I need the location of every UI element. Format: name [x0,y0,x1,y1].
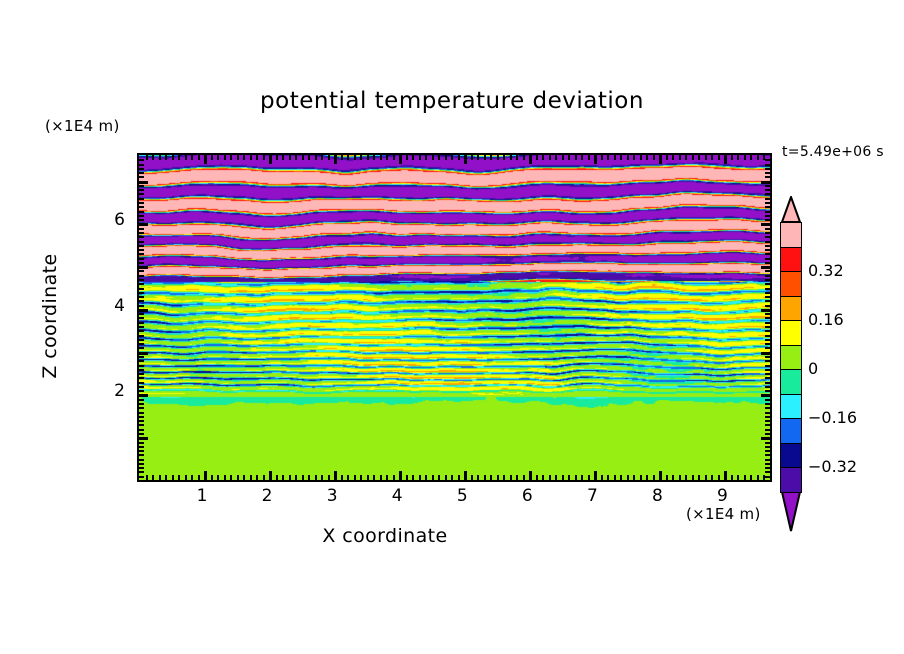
y-minor-tick [139,377,144,379]
y-minor-tick [139,454,144,456]
colorbar: 0.320.160−0.16−0.32 [780,196,802,518]
x-minor-tick [276,475,278,480]
y-minor-tick [139,292,144,294]
y-minor-tick [139,407,144,409]
y-minor-tick [139,450,144,452]
x-minor-tick [750,475,752,480]
y-minor-tick [139,326,144,328]
x-minor-tick [185,155,187,160]
y-minor-tick [139,300,144,302]
y-minor-tick [765,330,770,332]
x-minor-tick [757,155,759,160]
time-annotation: t=5.49e+06 s [782,144,884,160]
x-minor-tick [497,155,499,160]
x-minor-tick [614,475,616,480]
x-minor-tick [542,475,544,480]
y-minor-tick [139,164,144,166]
y-minor-tick [139,258,144,260]
x-minor-tick [510,155,512,160]
page-title: potential temperature deviation [0,88,904,114]
y-major-tick [139,394,148,397]
y-minor-tick [765,407,770,409]
y-major-tick [139,352,148,355]
y-minor-tick [765,215,770,217]
y-minor-tick [765,322,770,324]
x-minor-tick [165,475,167,480]
y-major-tick [761,394,770,397]
x-minor-tick [607,155,609,160]
x-minor-tick [711,475,713,480]
x-major-tick [334,471,337,480]
y-major-tick [761,352,770,355]
x-minor-tick [185,475,187,480]
y-minor-tick [765,159,770,161]
y-minor-tick [765,365,770,367]
y-tick-label: 4 [95,296,125,316]
x-minor-tick [503,475,505,480]
x-minor-tick [354,475,356,480]
y-minor-tick [765,296,770,298]
x-minor-tick [516,155,518,160]
x-minor-tick [601,155,603,160]
x-minor-tick [607,475,609,480]
y-minor-tick [139,463,144,465]
y-minor-tick [765,467,770,469]
y-minor-tick [139,446,144,448]
y-minor-tick [139,390,144,392]
x-minor-tick [614,155,616,160]
x-major-tick [204,471,207,480]
y-minor-tick [139,347,144,349]
x-minor-tick [744,155,746,160]
y-minor-tick [139,172,144,174]
x-minor-tick [341,475,343,480]
x-minor-tick [471,155,473,160]
x-minor-tick [302,155,304,160]
y-minor-tick [765,313,770,315]
x-minor-tick [536,475,538,480]
y-minor-tick [765,386,770,388]
y-minor-tick [139,253,144,255]
x-minor-tick [282,155,284,160]
x-minor-tick [211,475,213,480]
x-minor-tick [633,155,635,160]
y-minor-tick [765,258,770,260]
x-minor-tick [315,155,317,160]
x-minor-tick [477,475,479,480]
y-minor-tick [765,382,770,384]
x-minor-tick [412,155,414,160]
y-minor-tick [765,326,770,328]
y-minor-tick [765,446,770,448]
x-minor-tick [373,475,375,480]
y-minor-tick [139,412,144,414]
colorbar-tick-label: 0.32 [808,261,844,280]
y-minor-tick [139,202,144,204]
y-minor-tick [765,245,770,247]
x-minor-tick [575,475,577,480]
y-minor-tick [765,360,770,362]
y-major-tick [761,266,770,269]
x-minor-tick [458,475,460,480]
y-minor-tick [765,373,770,375]
x-minor-tick [146,155,148,160]
y-minor-tick [765,412,770,414]
y-minor-tick [139,185,144,187]
x-major-tick [659,471,662,480]
x-minor-tick [445,155,447,160]
y-minor-tick [139,343,144,345]
x-minor-tick [360,475,362,480]
colorbar-tick-label: 0.16 [808,310,844,329]
y-minor-tick [139,296,144,298]
x-minor-tick [263,475,265,480]
x-minor-tick [289,155,291,160]
x-minor-tick [386,475,388,480]
y-minor-tick [139,330,144,332]
x-major-tick [529,471,532,480]
x-minor-tick [308,155,310,160]
x-major-tick [464,155,467,164]
y-minor-tick [139,416,144,418]
x-minor-tick [718,475,720,480]
x-minor-tick [653,155,655,160]
x-minor-tick [432,475,434,480]
x-minor-tick [666,155,668,160]
y-minor-tick [765,433,770,435]
x-minor-tick [295,155,297,160]
x-minor-tick [159,155,161,160]
y-minor-tick [765,390,770,392]
x-major-tick [594,471,597,480]
y-minor-tick [139,219,144,221]
y-tick-label: 2 [95,381,125,401]
y-minor-tick [765,369,770,371]
x-minor-tick [380,475,382,480]
y-minor-tick [139,275,144,277]
y-minor-tick [765,292,770,294]
colorbar-band [780,369,802,395]
x-major-tick [399,155,402,164]
colorbar-band [780,418,802,444]
x-minor-tick [263,155,265,160]
x-minor-tick [354,155,356,160]
x-minor-tick [503,155,505,160]
y-major-tick [761,437,770,440]
colorbar-bottom-cap [780,492,802,532]
x-minor-tick [685,475,687,480]
x-minor-tick [172,155,174,160]
x-minor-tick [731,155,733,160]
x-minor-tick [562,475,564,480]
y-minor-tick [765,228,770,230]
y-minor-tick [765,424,770,426]
colorbar-tick-label: 0 [808,359,818,378]
x-minor-tick [627,475,629,480]
x-minor-tick [217,475,219,480]
y-minor-tick [765,450,770,452]
x-minor-tick [698,475,700,480]
y-minor-tick [765,262,770,264]
x-tick-label: 5 [442,486,482,506]
x-minor-tick [386,155,388,160]
y-minor-tick [139,176,144,178]
y-minor-tick [139,228,144,230]
x-minor-tick [523,475,525,480]
y-minor-tick [765,241,770,243]
x-minor-tick [510,475,512,480]
y-minor-tick [139,467,144,469]
x-minor-tick [737,155,739,160]
y-minor-tick [139,429,144,431]
x-minor-tick [568,155,570,160]
x-minor-tick [653,475,655,480]
x-minor-tick [679,475,681,480]
x-major-tick [399,471,402,480]
x-minor-tick [211,155,213,160]
x-minor-tick [412,475,414,480]
x-minor-tick [230,155,232,160]
x-minor-tick [256,155,258,160]
y-minor-tick [765,232,770,234]
y-minor-tick [139,360,144,362]
x-minor-tick [380,155,382,160]
y-major-tick [139,223,148,226]
y-minor-tick [139,335,144,337]
x-minor-tick [750,155,752,160]
colorbar-band [780,320,802,346]
y-minor-tick [139,339,144,341]
y-minor-tick [139,206,144,208]
y-minor-tick [139,403,144,405]
y-minor-tick [139,305,144,307]
x-minor-tick [315,475,317,480]
y-minor-tick [139,365,144,367]
y-minor-tick [765,454,770,456]
x-minor-tick [159,475,161,480]
colorbar-tick-label: −0.16 [808,408,857,427]
x-minor-tick [165,155,167,160]
x-minor-tick [406,155,408,160]
x-minor-tick [588,155,590,160]
x-minor-tick [191,155,193,160]
x-minor-tick [341,155,343,160]
x-minor-tick [646,475,648,480]
y-minor-tick [765,429,770,431]
x-tick-label: 1 [182,486,222,506]
y-minor-tick [765,283,770,285]
x-minor-tick [718,155,720,160]
x-minor-tick [172,475,174,480]
x-minor-tick [425,155,427,160]
x-minor-tick [419,155,421,160]
y-minor-tick [765,168,770,170]
y-minor-tick [765,270,770,272]
y-minor-tick [765,403,770,405]
y-minor-tick [139,279,144,281]
x-minor-tick [601,475,603,480]
x-minor-tick [666,475,668,480]
x-minor-tick [393,155,395,160]
x-minor-tick [555,155,557,160]
x-minor-tick [523,155,525,160]
x-minor-tick [243,155,245,160]
y-minor-tick [765,471,770,473]
x-major-tick [659,155,662,164]
x-minor-tick [367,475,369,480]
y-minor-tick [139,433,144,435]
y-minor-tick [139,382,144,384]
x-major-tick [464,471,467,480]
x-minor-tick [698,155,700,160]
y-minor-tick [139,211,144,213]
x-major-tick [334,155,337,164]
x-major-tick [269,155,272,164]
colorbar-band [780,247,802,273]
x-major-tick [724,471,727,480]
x-minor-tick [497,475,499,480]
y-minor-tick [139,159,144,161]
x-tick-label: 8 [637,486,677,506]
x-minor-tick [705,475,707,480]
x-minor-tick [542,155,544,160]
y-minor-tick [765,476,770,478]
y-minor-tick [765,172,770,174]
y-minor-tick [765,335,770,337]
y-minor-tick [139,399,144,401]
x-axis-unit-label: (×1E4 m) [686,505,761,523]
x-minor-tick [744,475,746,480]
x-minor-tick [451,155,453,160]
y-minor-tick [765,206,770,208]
y-minor-tick [765,211,770,213]
x-minor-tick [393,475,395,480]
y-major-tick [139,437,148,440]
x-minor-tick [295,475,297,480]
x-minor-tick [438,155,440,160]
y-minor-tick [765,253,770,255]
x-minor-tick [191,475,193,480]
x-minor-tick [549,475,551,480]
x-minor-tick [347,475,349,480]
y-minor-tick [765,202,770,204]
colorbar-top-cap [780,196,802,222]
x-minor-tick [146,475,148,480]
x-minor-tick [237,475,239,480]
x-minor-tick [152,475,154,480]
x-minor-tick [178,475,180,480]
y-minor-tick [139,317,144,319]
y-major-tick [139,266,148,269]
x-major-tick [594,155,597,164]
y-minor-tick [765,300,770,302]
colorbar-band [780,222,802,248]
x-tick-label: 6 [507,486,547,506]
x-major-tick [204,155,207,164]
x-minor-tick [672,155,674,160]
y-minor-tick [765,164,770,166]
y-minor-tick [139,215,144,217]
x-minor-tick [471,475,473,480]
y-minor-tick [765,275,770,277]
x-minor-tick [737,475,739,480]
y-major-tick [761,223,770,226]
x-minor-tick [224,155,226,160]
x-minor-tick [633,475,635,480]
y-minor-tick [139,476,144,478]
y-minor-tick [765,399,770,401]
x-minor-tick [321,155,323,160]
y-minor-tick [139,442,144,444]
y-minor-tick [139,283,144,285]
x-minor-tick [692,475,694,480]
x-minor-tick [347,155,349,160]
x-major-tick [529,155,532,164]
y-minor-tick [765,347,770,349]
x-minor-tick [731,475,733,480]
colorbar-band [780,443,802,469]
y-minor-tick [139,420,144,422]
x-minor-tick [230,475,232,480]
x-minor-tick [555,475,557,480]
y-major-tick [139,309,148,312]
y-minor-tick [765,189,770,191]
x-major-tick [269,471,272,480]
y-minor-tick [765,288,770,290]
colorbar-band [780,345,802,371]
x-minor-tick [757,475,759,480]
x-minor-tick [711,155,713,160]
y-minor-tick [139,424,144,426]
x-minor-tick [581,155,583,160]
y-minor-tick [139,313,144,315]
y-minor-tick [139,386,144,388]
x-minor-tick [308,475,310,480]
y-minor-tick [765,442,770,444]
x-minor-tick [451,475,453,480]
y-minor-tick [765,416,770,418]
x-minor-tick [360,155,362,160]
x-minor-tick [679,155,681,160]
x-minor-tick [588,475,590,480]
x-minor-tick [438,475,440,480]
x-tick-label: 7 [572,486,612,506]
x-minor-tick [568,475,570,480]
y-minor-tick [765,356,770,358]
x-major-tick [724,155,727,164]
y-minor-tick [765,198,770,200]
x-minor-tick [250,475,252,480]
x-minor-tick [406,475,408,480]
x-minor-tick [640,155,642,160]
y-minor-tick [139,459,144,461]
x-minor-tick [178,155,180,160]
x-minor-tick [575,155,577,160]
y-minor-tick [139,193,144,195]
y-minor-tick [139,471,144,473]
y-minor-tick [139,262,144,264]
x-minor-tick [484,155,486,160]
x-minor-tick [237,155,239,160]
x-minor-tick [646,155,648,160]
y-minor-tick [765,176,770,178]
x-minor-tick [490,155,492,160]
y-minor-tick [139,249,144,251]
x-minor-tick [256,475,258,480]
y-minor-tick [765,279,770,281]
x-minor-tick [692,155,694,160]
contour-plot-area [137,153,772,482]
